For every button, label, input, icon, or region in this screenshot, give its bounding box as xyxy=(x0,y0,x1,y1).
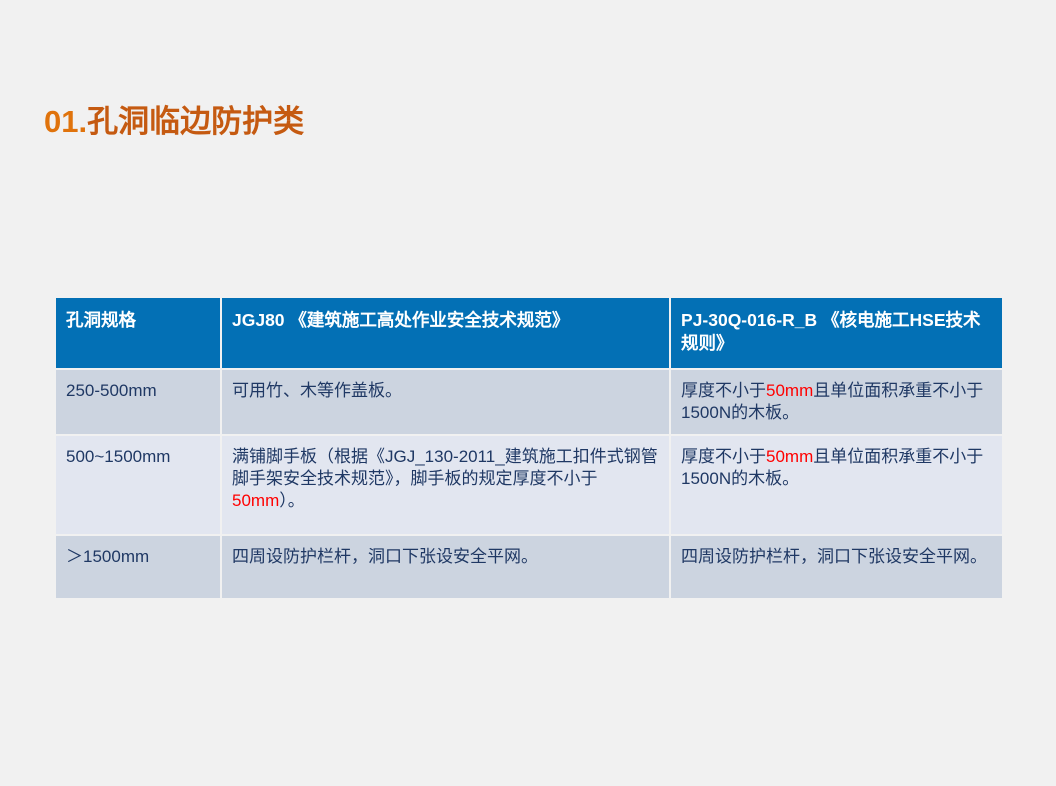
cell-text-pre: 可用竹、木等作盖板。 xyxy=(232,381,402,400)
cell-spec: ＞1500mm xyxy=(56,536,220,598)
page-title-text: 孔洞临边防护类 xyxy=(87,104,304,139)
column-header-jgj80: JGJ80 《建筑施工高处作业安全技术规范》 xyxy=(222,298,669,368)
table-header-row: 孔洞规格 JGJ80 《建筑施工高处作业安全技术规范》 PJ-30Q-016-R… xyxy=(56,298,1002,368)
cell-text-highlight: 50mm xyxy=(766,381,813,400)
table-row: ＞1500mm 四周设防护栏杆，洞口下张设安全平网。 四周设防护栏杆，洞口下张设… xyxy=(56,536,1002,598)
hole-protection-spec-table: 孔洞规格 JGJ80 《建筑施工高处作业安全技术规范》 PJ-30Q-016-R… xyxy=(54,296,1004,600)
cell-text-post: ）。 xyxy=(279,491,305,510)
page-title-number: 01. xyxy=(44,104,87,139)
page-title: 01.孔洞临边防护类 xyxy=(44,103,304,142)
cell-jgj80: 四周设防护栏杆，洞口下张设安全平网。 xyxy=(222,536,669,598)
cell-jgj80: 满铺脚手板（根据《JGJ_130-2011_建筑施工扣件式钢管脚手架安全技术规范… xyxy=(222,436,669,534)
cell-jgj80: 可用竹、木等作盖板。 xyxy=(222,370,669,434)
column-header-pj30q: PJ-30Q-016-R_B 《核电施工HSE技术规则》 xyxy=(671,298,1002,368)
cell-pj30q: 厚度不小于50mm且单位面积承重不小于1500N的木板。 xyxy=(671,436,1002,534)
cell-text-highlight: 50mm xyxy=(232,491,279,510)
cell-pj30q: 四周设防护栏杆，洞口下张设安全平网。 xyxy=(671,536,1002,598)
cell-text-pre: 四周设防护栏杆，洞口下张设安全平网。 xyxy=(681,547,987,566)
cell-text-pre: 厚度不小于 xyxy=(681,447,766,466)
cell-text-pre: 满铺脚手板（根据《JGJ_130-2011_建筑施工扣件式钢管脚手架安全技术规范… xyxy=(232,447,658,488)
table-row: 250-500mm 可用竹、木等作盖板。 厚度不小于50mm且单位面积承重不小于… xyxy=(56,370,1002,434)
cell-text-pre: 厚度不小于 xyxy=(681,381,766,400)
cell-text-pre: 四周设防护栏杆，洞口下张设安全平网。 xyxy=(232,547,538,566)
cell-pj30q: 厚度不小于50mm且单位面积承重不小于1500N的木板。 xyxy=(671,370,1002,434)
column-header-spec: 孔洞规格 xyxy=(56,298,220,368)
cell-text-highlight: 50mm xyxy=(766,447,813,466)
cell-spec: 250-500mm xyxy=(56,370,220,434)
cell-spec: 500~1500mm xyxy=(56,436,220,534)
table-row: 500~1500mm 满铺脚手板（根据《JGJ_130-2011_建筑施工扣件式… xyxy=(56,436,1002,534)
